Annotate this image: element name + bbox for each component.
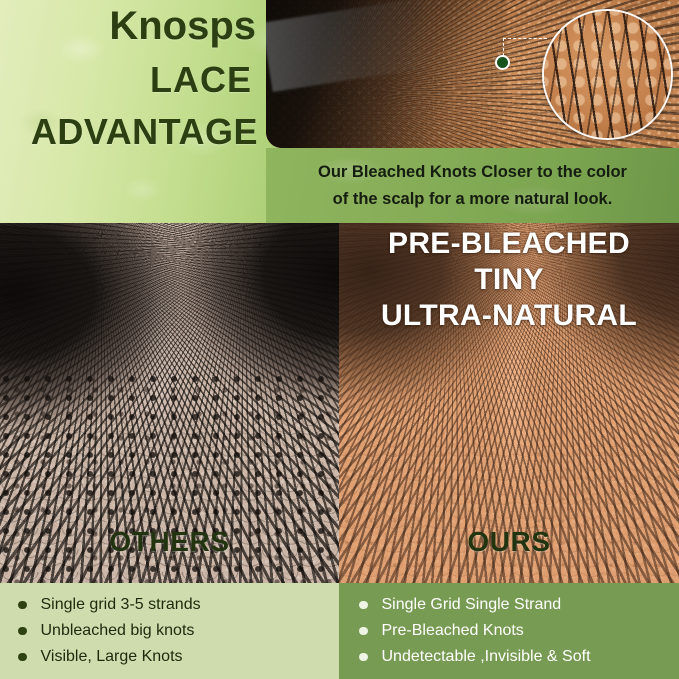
bullet-dot-icon [359, 601, 368, 610]
brand-name: Knosps [0, 6, 258, 46]
lace-advantage-infographic: Knosps LACE ADVANTAGE Our Bleached Knots… [0, 0, 679, 679]
ours-bullet-panel: Single Grid Single Strand Pre-Bleached K… [339, 583, 679, 679]
ours-bullet-3: Undetectable ,Invisible & Soft [382, 648, 591, 666]
ours-bullet-2: Pre-Bleached Knots [382, 622, 524, 640]
bullet-dot-icon [359, 627, 368, 636]
others-label: OTHERS [0, 526, 339, 558]
brand-heading-block: Knosps LACE ADVANTAGE [0, 0, 258, 150]
list-item: Unbleached big knots [0, 618, 339, 644]
list-item: Undetectable ,Invisible & Soft [339, 644, 679, 670]
hero-caption-line-2: of the scalp for a more natural look. [333, 186, 613, 213]
list-item: Visible, Large Knots [0, 644, 339, 670]
others-bullet-panel: Single grid 3-5 strands Unbleached big k… [0, 583, 339, 679]
others-bullet-3: Visible, Large Knots [41, 648, 183, 666]
list-item: Pre-Bleached Knots [339, 618, 679, 644]
hero-caption-band: Our Bleached Knots Closer to the color o… [266, 148, 679, 223]
hero-caption-line-1: Our Bleached Knots Closer to the color [318, 159, 627, 186]
bullet-dot-icon [18, 653, 27, 662]
brand-subtitle-lace: LACE [0, 62, 258, 98]
ours-label: OURS [339, 526, 679, 558]
callout-dashed-line-vertical [503, 38, 504, 56]
bullet-dot-icon [18, 627, 27, 636]
green-dot-marker-icon [495, 55, 510, 70]
magnifier-circle-icon [542, 9, 673, 140]
top-section: Knosps LACE ADVANTAGE Our Bleached Knots… [0, 0, 679, 223]
list-item: Single grid 3-5 strands [0, 592, 339, 618]
ours-bullet-1: Single Grid Single Strand [382, 596, 562, 614]
list-item: Single Grid Single Strand [339, 592, 679, 618]
callout-dashed-line-horizontal [503, 38, 547, 39]
bullet-dot-icon [18, 601, 27, 610]
others-bullet-1: Single grid 3-5 strands [41, 596, 201, 614]
brand-subtitle-advantage: ADVANTAGE [0, 114, 258, 150]
magnifier-hair-strands [542, 9, 673, 140]
others-bullet-2: Unbleached big knots [41, 622, 195, 640]
bullet-dot-icon [359, 653, 368, 662]
